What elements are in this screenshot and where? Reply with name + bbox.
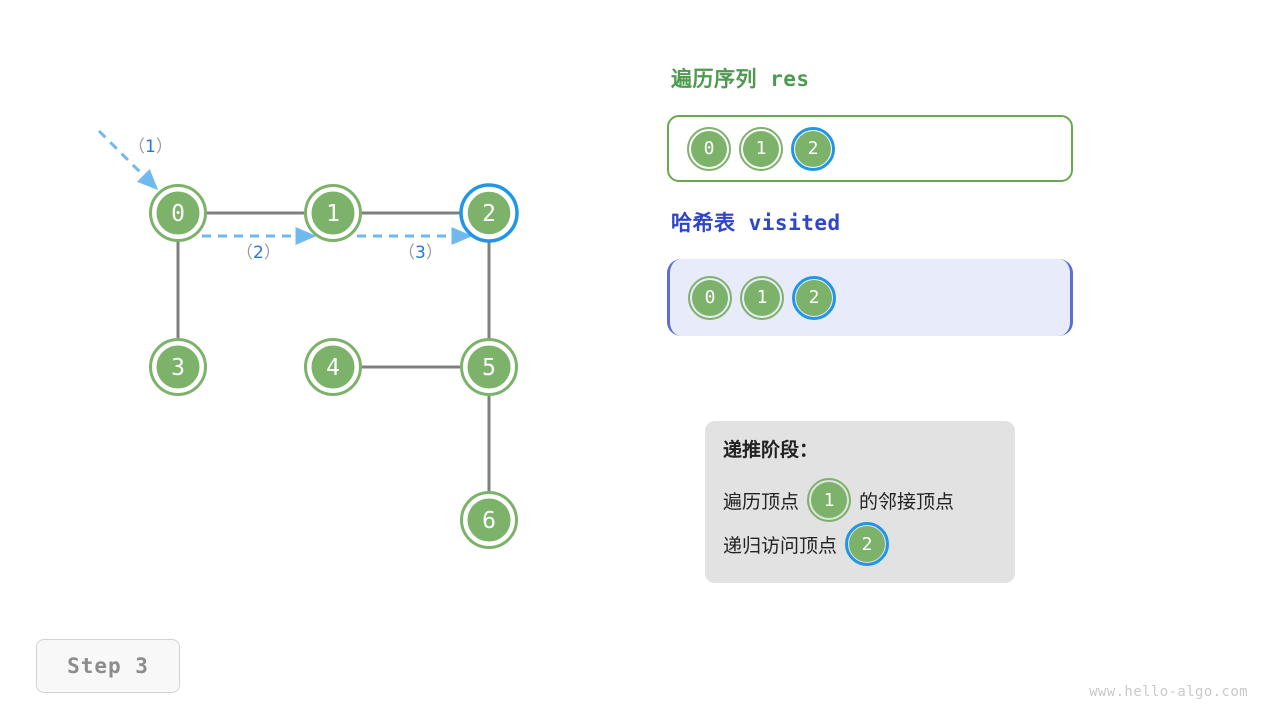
- graph-node-label-0: 0: [171, 201, 185, 227]
- graph-node-2[interactable]: 2: [461, 185, 517, 241]
- res-array-box: 0 1 2: [667, 115, 1073, 182]
- graph-node-0[interactable]: 0: [151, 186, 206, 241]
- info-card-line-1: 遍历顶点 1 的邻接顶点: [723, 478, 1015, 522]
- graph-node-label-3: 3: [171, 355, 185, 381]
- res-item-2[interactable]: 2: [791, 127, 835, 171]
- info-card-heading: 递推阶段：: [723, 441, 1015, 460]
- graph-panel: （1） （2） （3） 0 1 2 3: [0, 0, 640, 720]
- graph-node-1[interactable]: 1: [306, 186, 361, 241]
- res-item-label: 0: [687, 127, 731, 171]
- info-line-1-prefix: 遍历顶点: [723, 487, 799, 514]
- arrow-index-label-3: （3）: [398, 243, 443, 263]
- visited-set-box: 0 1 2: [667, 259, 1073, 336]
- visited-item-2[interactable]: 2: [792, 276, 836, 320]
- graph-node-label-5: 5: [482, 355, 496, 381]
- graph-node-label-6: 6: [482, 508, 496, 534]
- info-line-1-node-chip: 1: [807, 478, 851, 522]
- graph-node-label-4: 4: [326, 355, 340, 381]
- graph-node-6[interactable]: 6: [462, 493, 517, 548]
- info-card-line-2: 递归访问顶点 2: [723, 522, 1015, 566]
- info-node-label: 1: [807, 478, 851, 522]
- res-item-0[interactable]: 0: [687, 127, 731, 171]
- info-line-2-node-chip: 2: [845, 522, 889, 566]
- res-section-title: 遍历序列 res: [671, 63, 810, 93]
- visited-item-label: 1: [740, 276, 784, 320]
- info-line-1-suffix: 的邻接顶点: [859, 487, 954, 514]
- visited-item-label: 2: [792, 276, 836, 320]
- graph-node-label-1: 1: [326, 201, 340, 227]
- res-item-label: 1: [739, 127, 783, 171]
- graph-node-5[interactable]: 5: [462, 340, 517, 395]
- graph-node-label-2: 2: [482, 201, 496, 227]
- visited-item-label: 0: [688, 276, 732, 320]
- info-card: 递推阶段： 遍历顶点 1 的邻接顶点 递归访问顶点 2: [705, 421, 1015, 583]
- graph-node-3[interactable]: 3: [151, 340, 206, 395]
- res-item-1[interactable]: 1: [739, 127, 783, 171]
- visited-section-title: 哈希表 visited: [671, 207, 841, 237]
- visited-item-1[interactable]: 1: [740, 276, 784, 320]
- arrow-index-label-2: （2）: [236, 243, 281, 263]
- visited-item-0[interactable]: 0: [688, 276, 732, 320]
- res-item-label: 2: [791, 127, 835, 171]
- right-panel: 遍历序列 res 0 1 2 哈希表 visited 0 1: [666, 0, 1280, 720]
- watermark: www.hello-algo.com: [1089, 684, 1248, 700]
- step-badge: Step 3: [36, 639, 180, 693]
- graph-diagram: （1） （2） （3） 0 1 2 3: [0, 0, 640, 720]
- info-line-2-prefix: 递归访问顶点: [723, 531, 837, 558]
- arrow-index-label-1: （1）: [128, 137, 173, 157]
- graph-node-4[interactable]: 4: [306, 340, 361, 395]
- info-node-label: 2: [845, 522, 889, 566]
